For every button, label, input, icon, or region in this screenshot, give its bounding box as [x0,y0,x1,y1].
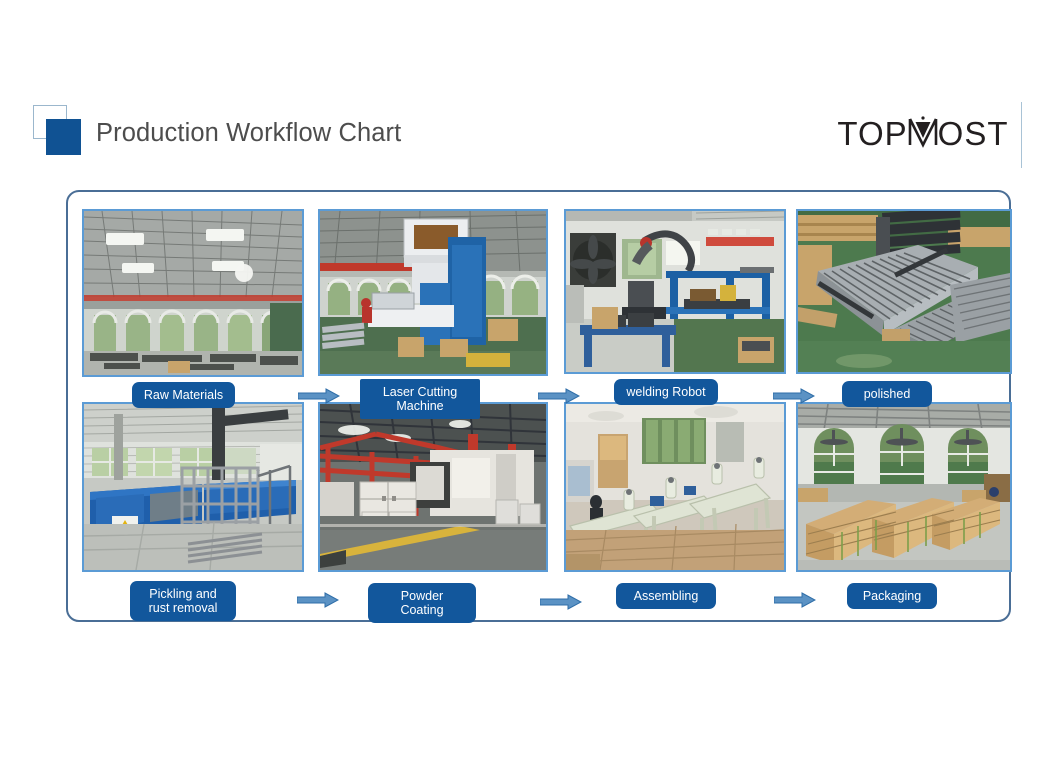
workflow-arrow-1 [298,388,340,409]
workflow-row-1: Raw Materials [68,202,1009,407]
workflow-arrow-4 [297,592,339,613]
step-label-powder-coating[interactable]: Powder Coating [368,583,476,623]
logo-divider [1021,102,1023,168]
logo-text-ost: OST [938,115,1009,153]
step-image-packaging [796,402,1012,572]
step-label-welding-robot[interactable]: welding Robot [614,379,718,405]
step-label-polished[interactable]: polished [842,381,932,407]
workflow-panel: Raw Materials [66,190,1011,622]
workflow-row-2: Pickling and rust removal [68,399,1009,604]
step-label-pickling-rust-removal[interactable]: Pickling and rust removal [130,581,236,621]
title-decoration-squares [33,105,87,161]
title-block: Production Workflow Chart [33,105,401,161]
step-image-pickling-rust-removal [82,402,304,572]
step-image-powder-coating [318,402,548,572]
workflow-arrow-5 [540,594,582,615]
workflow-arrow-3 [773,388,815,409]
logo-letter-m [908,115,938,153]
step-image-laser-cutting-machine [318,209,548,376]
step-image-assembling [564,402,786,572]
step-image-polished [796,209,1012,374]
step-label-packaging[interactable]: Packaging [847,583,937,609]
step-label-laser-cutting-machine[interactable]: Laser Cutting Machine [360,379,480,419]
page-header: Production Workflow Chart TOPOST [0,0,1060,180]
step-label-assembling[interactable]: Assembling [616,583,716,609]
workflow-arrow-2 [538,388,580,409]
logo-wordmark: TOPOST [837,115,1008,153]
page-title: Production Workflow Chart [96,119,401,148]
workflow-arrow-6 [774,592,816,613]
step-image-welding-robot [564,209,786,374]
step-image-raw-materials [82,209,304,377]
decoration-filled-square [46,119,81,155]
step-label-raw-materials[interactable]: Raw Materials [132,382,235,408]
logo-text-top: TOP [837,115,907,153]
brand-logo: TOPOST [837,100,1022,168]
